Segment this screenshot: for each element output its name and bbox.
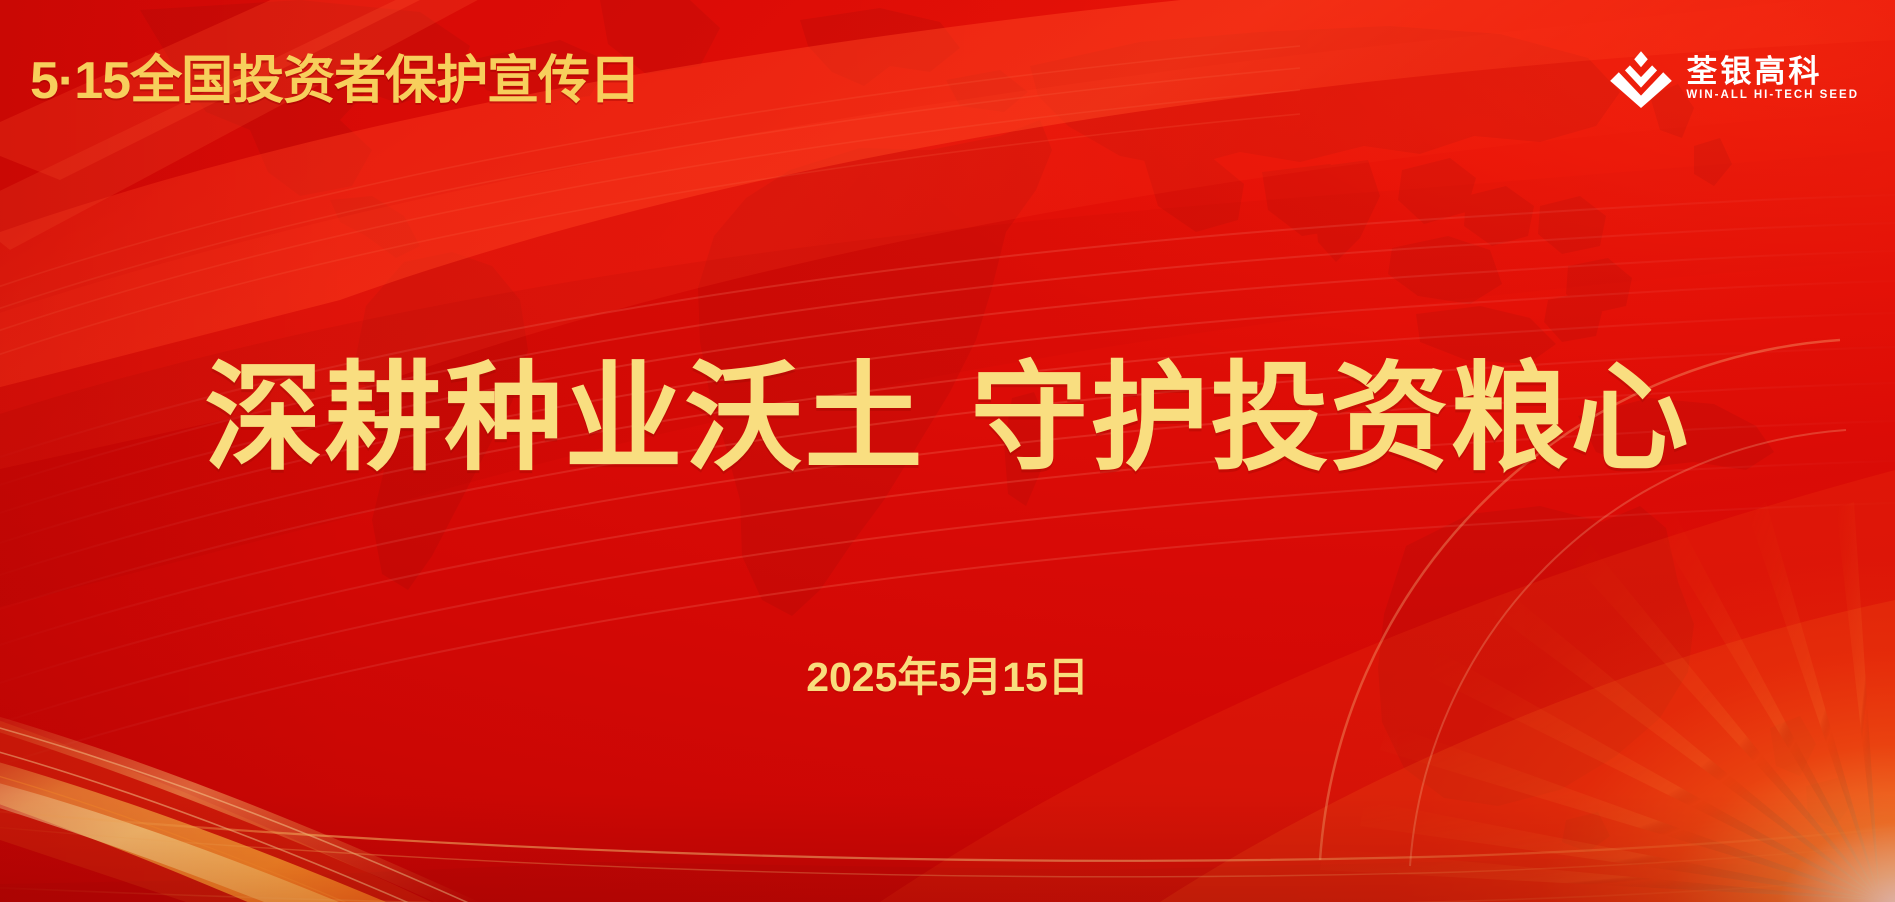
company-logo: 荃银高科 WIN-ALL HI-TECH SEED: [1610, 50, 1859, 108]
win-all-chevron-sprout-icon: [1610, 50, 1672, 108]
headline-part-2: 守护投资粮心: [971, 353, 1691, 485]
company-logo-wordmark: 荃银高科 WIN-ALL HI-TECH SEED: [1686, 56, 1859, 102]
investor-protection-banner: 5·15全国投资者保护宣传日 荃银高科 WIN-ALL HI-TECH SEE: [0, 0, 1895, 902]
event-label: 5·15全国投资者保护宣传日: [30, 55, 640, 107]
banner-content: 5·15全国投资者保护宣传日 荃银高科 WIN-ALL HI-TECH SEE: [0, 0, 1895, 902]
page-title: 深耕种业沃土守护投资粮心: [0, 350, 1895, 489]
headline-part-1: 深耕种业沃土: [204, 353, 924, 485]
company-name-en: WIN-ALL HI-TECH SEED: [1686, 90, 1859, 102]
event-date: 2025年5月15日: [0, 657, 1895, 698]
company-name-cn: 荃银高科: [1686, 56, 1859, 87]
